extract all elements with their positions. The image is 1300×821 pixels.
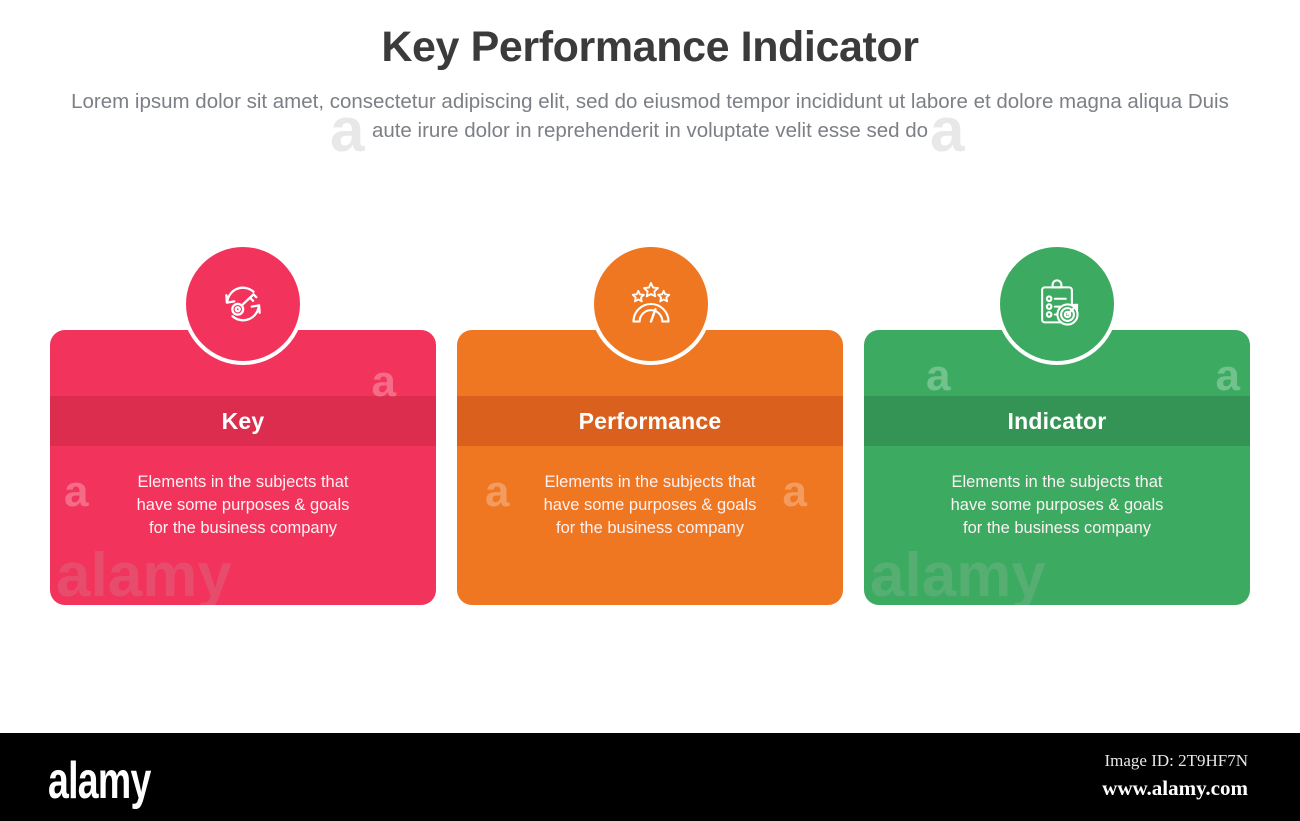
kpi-card-row: a Key Elements in the subjects that have… (50, 330, 1250, 605)
card-title: Performance (579, 408, 722, 435)
page-subtitle: Lorem ipsum dolor sit amet, consectetur … (55, 87, 1245, 146)
card-title-band: Key (50, 396, 436, 446)
gauge-stars-icon (623, 276, 679, 332)
kpi-card-performance[interactable]: a a Performance Elements in the subjects… (457, 330, 843, 605)
kpi-icon-badge-indicator[interactable] (996, 243, 1118, 365)
kpi-icon-badge-key[interactable] (182, 243, 304, 365)
card-title: Key (222, 408, 265, 435)
alamy-logo: alamy (48, 751, 151, 811)
kpi-card-key[interactable]: a Key Elements in the subjects that have… (50, 330, 436, 605)
card-description: Elements in the subjects that have some … (523, 471, 778, 605)
header: Key Performance Indicator Lorem ipsum do… (0, 22, 1300, 146)
footer-meta: Image ID: 2T9HF7N www.alamy.com (1102, 751, 1248, 801)
key-rotate-icon (215, 276, 271, 332)
card-body: Elements in the subjects that have some … (50, 446, 436, 605)
clipboard-target-icon (1029, 276, 1085, 332)
page-title: Key Performance Indicator (0, 22, 1300, 73)
alamy-url: www.alamy.com (1102, 776, 1248, 801)
card-body: Elements in the subjects that have some … (457, 446, 843, 605)
card-title-band: Indicator (864, 396, 1250, 446)
kpi-icon-badge-performance[interactable] (590, 243, 712, 365)
card-title: Indicator (1008, 408, 1107, 435)
image-id-label: Image ID: 2T9HF7N (1102, 751, 1248, 771)
card-title-band: Performance (457, 396, 843, 446)
card-body: Elements in the subjects that have some … (864, 446, 1250, 605)
infographic-canvas: Key Performance Indicator Lorem ipsum do… (0, 0, 1300, 821)
kpi-card-indicator[interactable]: a a Indicator Elements in the subjects t… (864, 330, 1250, 605)
alamy-watermark-bar: alamy Image ID: 2T9HF7N www.alamy.com (0, 733, 1300, 821)
card-description: Elements in the subjects that have some … (116, 471, 371, 605)
card-description: Elements in the subjects that have some … (930, 471, 1185, 605)
